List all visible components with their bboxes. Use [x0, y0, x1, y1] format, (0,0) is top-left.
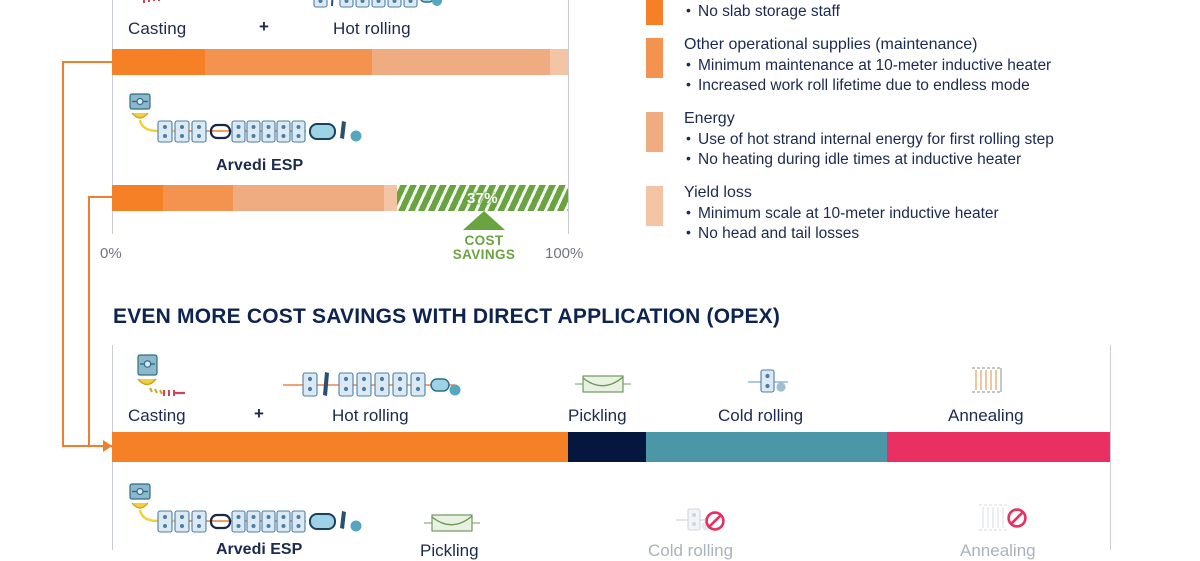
arvedi-esp-icon-lower [128, 483, 378, 533]
bar-segment-yield-loss [384, 185, 397, 211]
benefit-personnel: Only one caster operation groupNo slab s… [646, 0, 1176, 21]
connector-top-vertical [62, 61, 64, 447]
hot-rolling-icon-lower [283, 370, 463, 400]
bar-segment-other-operational-supplies [205, 49, 371, 75]
cost-savings-caption: COST SAVINGS [424, 234, 544, 262]
label-hot-rolling-lower: Hot rolling [332, 406, 409, 426]
benefit-bullets-personnel: Only one caster operation groupNo slab s… [684, 0, 1176, 21]
benefit-bullet: Minimum scale at 10-meter inductive heat… [684, 204, 1176, 224]
section-title: EVEN MORE COST SAVINGS WITH DIRECT APPLI… [113, 305, 780, 329]
benefit-color-swatch-other-operational-supplies [646, 38, 663, 78]
hot-rolling-icon-conventional [310, 0, 440, 12]
label-cold-rolling-lower: Cold rolling [718, 406, 803, 426]
benefit-title-yield-loss: Yield loss [684, 183, 1176, 203]
benefit-bullet: No heating during idle times at inductiv… [684, 150, 1176, 170]
axis-label-min: 0% [100, 245, 122, 262]
cold-rolling-icon-lower [748, 368, 794, 396]
label-annealing-lower: Annealing [948, 406, 1024, 426]
benefit-bullets-yield-loss: Minimum scale at 10-meter inductive heat… [684, 204, 1176, 243]
label-hot-rolling-conventional: Hot rolling [333, 19, 411, 39]
bar-lower-conventional [112, 432, 1110, 462]
lower-panel-right-border [1110, 345, 1111, 550]
bar-segment-personnel [112, 49, 205, 75]
benefit-title-other-operational-supplies: Other operational supplies (maintenance) [684, 35, 1176, 55]
axis-tick-min [112, 211, 113, 234]
cost-savings-line1: COST [464, 233, 503, 248]
benefit-bullets-energy: Use of hot strand internal energy for fi… [684, 130, 1176, 169]
bar-conventional-cost [112, 49, 568, 75]
benefit-color-swatch-yield-loss [646, 186, 663, 226]
label-arvedi-esp-lower: Arvedi ESP [216, 541, 302, 559]
label-casting-conventional: Casting [128, 19, 186, 39]
axis-tick-max [568, 211, 569, 234]
benefit-bullet: Increased work roll lifetime due to endl… [684, 76, 1176, 96]
bar-segment-energy [372, 49, 550, 75]
connector-arrow-icon [103, 440, 112, 452]
bar-arvedi-cost: 37% [112, 185, 568, 211]
benefit-bullet: No slab storage staff [684, 2, 1176, 22]
label-pickling-lower: Pickling [568, 406, 627, 426]
label-plus-conventional: + [259, 17, 269, 37]
pickling-icon-arvedi [424, 512, 480, 534]
connector-second-horizontal [88, 196, 112, 198]
casting-icon-conventional [128, 0, 186, 12]
cost-savings-pointer-icon [463, 211, 505, 230]
benefit-color-swatch-personnel [646, 0, 663, 25]
benefit-color-swatch-energy [646, 112, 663, 152]
bar-segment-personnel [112, 185, 163, 211]
bar-segment-casting-hot-rolling [112, 432, 568, 462]
annealing-icon-arvedi-disabled [977, 500, 1031, 536]
arvedi-esp-icon-upper [128, 93, 378, 143]
benefit-other-operational-supplies: Other operational supplies (maintenance)… [646, 35, 1176, 95]
slide-canvas: Casting + Hot rolling [0, 0, 1200, 550]
bar-segment-annealing [887, 432, 1110, 462]
label-casting-lower: Casting [128, 406, 186, 426]
bar-segment-energy [233, 185, 384, 211]
annealing-icon-lower [968, 364, 1012, 396]
cost-savings-line2: SAVINGS [453, 247, 516, 262]
benefit-yield-loss: Yield lossMinimum scale at 10-meter indu… [646, 183, 1176, 243]
casting-icon-lower [128, 355, 188, 401]
benefit-bullet: Use of hot strand internal energy for fi… [684, 130, 1176, 150]
label-annealing-arvedi-disabled: Annealing [960, 541, 1036, 561]
upper-panel-right-border [568, 0, 569, 212]
benefits-list: Only one caster operation groupNo slab s… [646, 0, 1176, 257]
connector-top-horizontal [62, 61, 112, 63]
bar-segment-cost-savings: 37% [397, 185, 568, 211]
cold-rolling-icon-arvedi-disabled [676, 505, 728, 535]
label-plus-lower: + [254, 404, 264, 424]
benefit-bullet: No head and tail losses [684, 224, 1176, 244]
axis-label-max: 100% [545, 245, 583, 262]
benefit-energy: EnergyUse of hot strand internal energy … [646, 109, 1176, 169]
benefit-bullets-other-operational-supplies: Minimum maintenance at 10-meter inductiv… [684, 56, 1176, 95]
benefit-bullet: Minimum maintenance at 10-meter inductiv… [684, 56, 1176, 76]
benefit-title-energy: Energy [684, 109, 1176, 129]
bar-segment-pickling [568, 432, 646, 462]
label-pickling-arvedi: Pickling [420, 541, 479, 561]
label-cold-rolling-arvedi-disabled: Cold rolling [648, 541, 733, 561]
label-arvedi-esp-upper: Arvedi ESP [216, 157, 303, 175]
cost-savings-value: 37% [467, 190, 498, 207]
bar-segment-other-operational-supplies [163, 185, 233, 211]
bar-segment-yield-loss [550, 49, 568, 75]
pickling-icon-lower [575, 373, 631, 395]
upper-panel-left-border [112, 0, 113, 212]
bar-segment-cold-rolling [646, 432, 888, 462]
connector-second-vertical [88, 196, 90, 447]
